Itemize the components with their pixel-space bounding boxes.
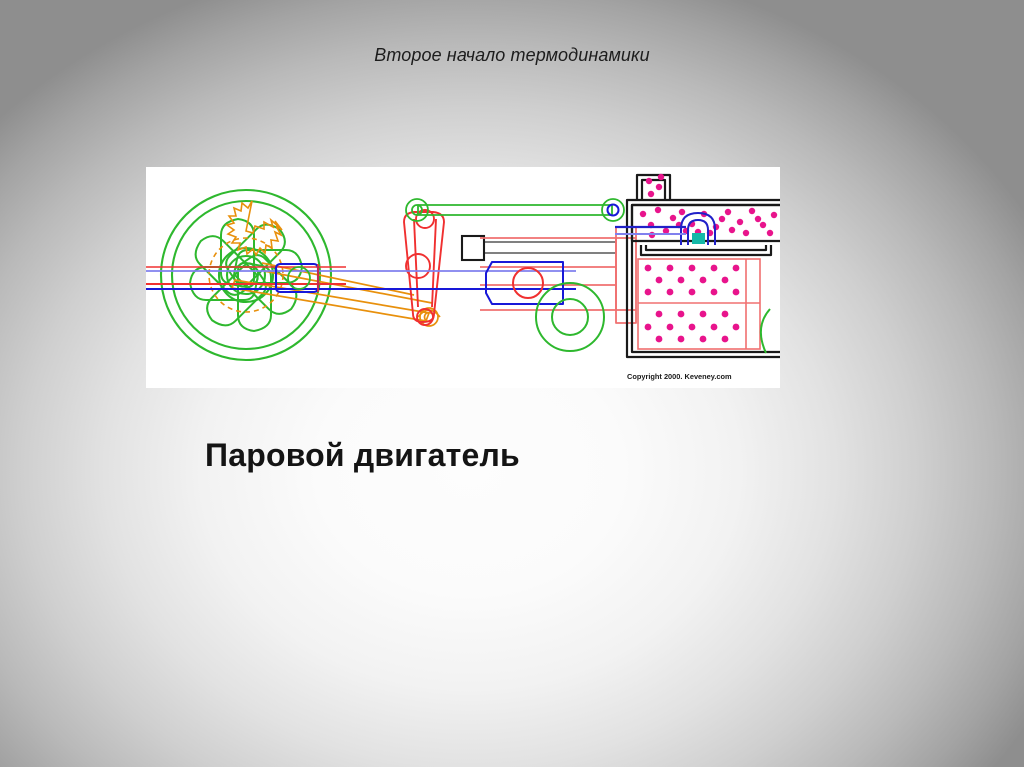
copyright-label: Copyright 2000. Keveney.com: [627, 372, 732, 381]
figure-caption: Паровой двигатель: [205, 437, 520, 474]
valve-port-block: [692, 233, 705, 244]
figure-image: Copyright 2000. Keveney.com: [146, 167, 780, 388]
slide-canvas: Второе начало термодинамики: [0, 0, 1024, 767]
steam-engine-schematic: Copyright 2000. Keveney.com: [146, 167, 780, 388]
valve-stem-block: [462, 236, 484, 260]
page-title: Второе начало термодинамики: [0, 44, 1024, 66]
